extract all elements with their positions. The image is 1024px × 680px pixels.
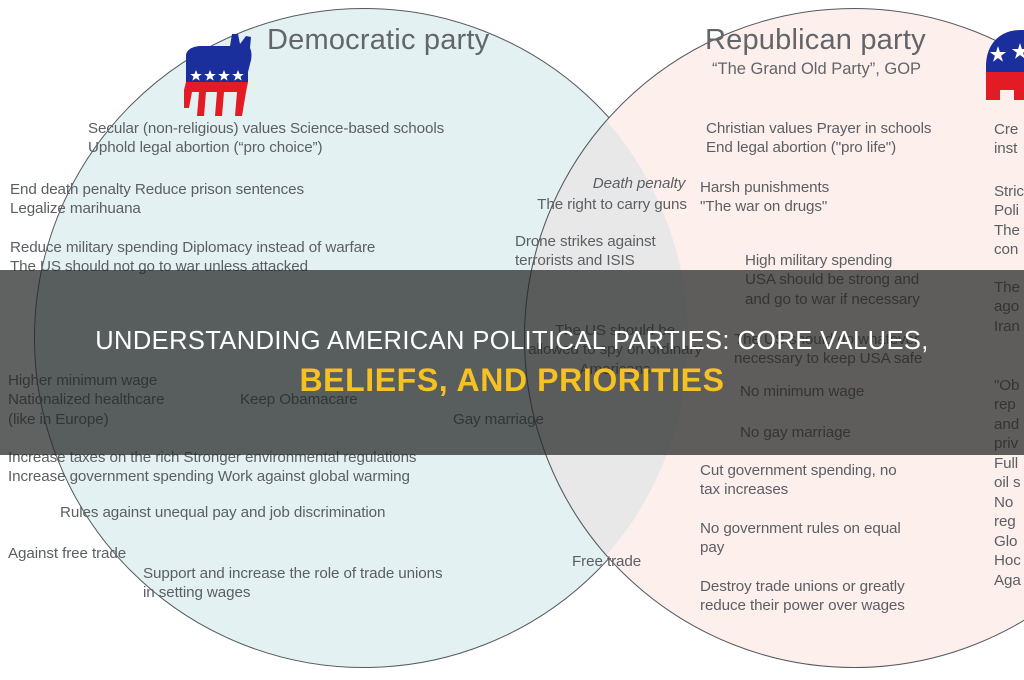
- dem-item-justice: End death penalty Reduce prison sentence…: [10, 180, 460, 219]
- rep-clipped-policy: Stric Poli The con: [994, 182, 1024, 260]
- venn-diagram-canvas: Democratic party Republican party “The G…: [0, 0, 1024, 680]
- democratic-title: Democratic party: [267, 24, 489, 57]
- overlap-item-death-penalty: Death penalty: [554, 174, 724, 193]
- republican-title: Republican party: [705, 24, 926, 57]
- overlap-item-carry-guns: The right to carry guns: [512, 195, 712, 214]
- republican-subtitle: “The Grand Old Party”, GOP: [712, 60, 921, 79]
- dem-item-free-trade: Against free trade: [8, 544, 228, 563]
- dem-item-equal-pay: Rules against unequal pay and job discri…: [60, 503, 530, 522]
- rep-item-punishments: Harsh punishments "The war on drugs": [700, 178, 990, 217]
- dem-item-values: Secular (non-religious) values Science-b…: [88, 119, 558, 158]
- rep-item-values: Christian values Prayer in schools End l…: [706, 119, 1006, 158]
- democratic-donkey-logo: [172, 28, 264, 120]
- title-overlay-banner: UNDERSTANDING AMERICAN POLITICAL PARTIES…: [0, 270, 1024, 455]
- overlap-item-free-trade: Free trade: [572, 552, 712, 571]
- rep-item-no-equal-pay: No government rules on equal pay: [700, 519, 1020, 558]
- rep-item-cut-spending: Cut government spending, no tax increase…: [700, 461, 1020, 500]
- overlay-title-line-1: UNDERSTANDING AMERICAN POLITICAL PARTIES…: [95, 327, 929, 356]
- dem-item-trade-unions: Support and increase the role of trade u…: [143, 564, 563, 603]
- overlap-item-drone-strikes: Drone strikes against terrorists and ISI…: [515, 232, 715, 271]
- rep-clipped-creationism: Cre inst: [994, 120, 1024, 159]
- rep-item-destroy-unions: Destroy trade unions or greatly reduce t…: [700, 577, 1020, 616]
- republican-elephant-logo: [984, 22, 1024, 108]
- overlay-title-line-2: BELIEFS, AND PRIORITIES: [299, 362, 724, 399]
